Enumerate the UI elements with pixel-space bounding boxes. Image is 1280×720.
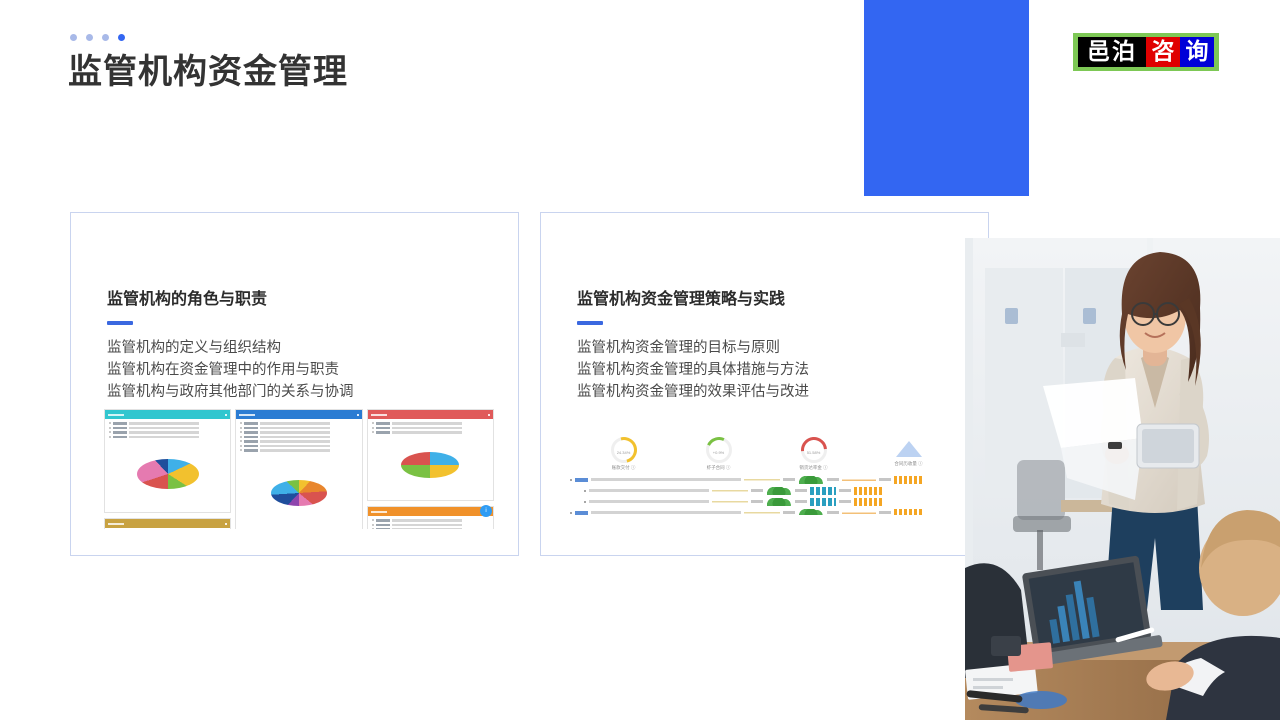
content-card-1[interactable]: 监管机构的角色与职责 监管机构的定义与组织结构 监管机构在资金管理中的作用与职责… bbox=[70, 212, 519, 556]
dot-4 bbox=[118, 34, 125, 41]
page-title: 监管机构资金管理 bbox=[68, 50, 348, 94]
logo-segment-red: 咨 bbox=[1146, 37, 1180, 67]
panel-blue bbox=[235, 409, 362, 529]
dashboard-column-1 bbox=[104, 409, 231, 529]
gauge-2: +0.9% 虾子合同 ⓘ bbox=[682, 437, 756, 471]
panel-gold-body bbox=[105, 528, 230, 529]
panel-red-header bbox=[368, 410, 493, 419]
gauge-1-caption: 账款交付 ⓘ bbox=[587, 465, 661, 471]
card-2-bullet-list: 监管机构资金管理的目标与原则 监管机构资金管理的具体措施与方法 监管机构资金管理… bbox=[577, 337, 968, 403]
panel-cyan-body bbox=[105, 419, 230, 512]
dot-indicator-row bbox=[70, 34, 125, 41]
dot-2 bbox=[86, 34, 93, 41]
panel-title-placeholder bbox=[108, 414, 124, 416]
panel-blue-header bbox=[236, 410, 361, 419]
gauge-2-caption: 虾子合同 ⓘ bbox=[682, 465, 756, 471]
panel-cyan bbox=[104, 409, 231, 513]
panel-orange bbox=[367, 506, 494, 529]
gauge-3-ring: 51.58% bbox=[801, 437, 827, 463]
panel-orange-header bbox=[368, 507, 493, 516]
card-1-accent-bar bbox=[107, 321, 133, 325]
panel-red bbox=[367, 409, 494, 501]
gauge-1-value: 24.34% bbox=[614, 450, 634, 455]
panel-cyan-pie bbox=[109, 438, 226, 509]
gauge-3-value: 51.58% bbox=[804, 450, 824, 455]
gauge-3: 51.58% 销货达率金 ⓘ bbox=[777, 437, 851, 471]
dot-3 bbox=[102, 34, 109, 41]
panel-red-pie bbox=[372, 434, 489, 498]
report-table-rows bbox=[566, 471, 966, 515]
brand-logo: 邑泊 咨 询 bbox=[1073, 33, 1219, 71]
panel-blue-body bbox=[236, 419, 361, 529]
dashboard-mock: i bbox=[104, 409, 494, 529]
gauge-2-ring: +0.9% bbox=[706, 437, 732, 463]
table-row bbox=[570, 507, 962, 515]
panel-cyan-header bbox=[105, 410, 230, 419]
card-1-bullet-list: 监管机构的定义与组织结构 监管机构在资金管理中的作用与职责 监管机构与政府其他部… bbox=[107, 337, 498, 403]
panel-blue-pie bbox=[240, 452, 357, 530]
card-1-thumbnail: i bbox=[104, 409, 504, 529]
table-row bbox=[570, 485, 962, 496]
area-chart-icon bbox=[896, 441, 922, 457]
card-1-title: 监管机构的角色与职责 bbox=[107, 285, 267, 309]
decorative-blue-block bbox=[864, 0, 1029, 196]
logo-segment-black: 邑泊 bbox=[1078, 37, 1146, 67]
card-1-line-2: 监管机构在资金管理中的作用与职责 bbox=[107, 359, 498, 381]
slide-root: 监管机构资金管理 邑泊 咨 询 监管机构的角色与职责 监管机构的定义与组织结构 … bbox=[0, 0, 1280, 720]
panel-gold-header bbox=[105, 519, 230, 528]
gauge-1: 24.34% 账款交付 ⓘ bbox=[587, 437, 661, 471]
panel-cyan-rows bbox=[109, 422, 226, 438]
help-badge-icon[interactable]: i bbox=[480, 505, 492, 517]
dashboard-column-3: i bbox=[367, 409, 494, 529]
card-2-line-1: 监管机构资金管理的目标与原则 bbox=[577, 337, 968, 359]
card-2-title: 监管机构资金管理策略与实践 bbox=[577, 285, 785, 309]
business-meeting-photo bbox=[965, 238, 1280, 720]
gauge-3-caption: 销货达率金 ⓘ bbox=[777, 465, 851, 471]
dot-1 bbox=[70, 34, 77, 41]
logo-segment-blue: 询 bbox=[1180, 37, 1214, 67]
panel-red-body bbox=[368, 419, 493, 500]
card-1-line-3: 监管机构与政府其他部门的关系与协调 bbox=[107, 381, 498, 403]
panel-menu-icon bbox=[225, 414, 227, 416]
report-mock: 24.34% 账款交付 ⓘ +0.9% 虾子合同 ⓘ bbox=[566, 435, 966, 515]
table-row bbox=[570, 496, 962, 507]
report-gauge-row: 24.34% 账款交付 ⓘ +0.9% 虾子合同 ⓘ bbox=[566, 435, 966, 471]
panel-orange-body bbox=[368, 516, 493, 529]
dashboard-column-2 bbox=[235, 409, 362, 529]
gauge-4-caption: 合同历收量 ⓘ bbox=[872, 461, 946, 467]
gauge-1-ring: 24.34% bbox=[611, 437, 637, 463]
card-2-thumbnail: 24.34% 账款交付 ⓘ +0.9% 虾子合同 ⓘ bbox=[566, 435, 976, 515]
table-row bbox=[570, 474, 962, 485]
card-1-line-1: 监管机构的定义与组织结构 bbox=[107, 337, 498, 359]
card-2-line-3: 监管机构资金管理的效果评估与改进 bbox=[577, 381, 968, 403]
panel-gold bbox=[104, 518, 231, 529]
card-2-accent-bar bbox=[577, 321, 603, 325]
gauge-2-value: +0.9% bbox=[709, 450, 729, 455]
card-2-line-2: 监管机构资金管理的具体措施与方法 bbox=[577, 359, 968, 381]
gauge-4: 合同历收量 ⓘ bbox=[872, 437, 946, 471]
content-card-2[interactable]: 监管机构资金管理策略与实践 监管机构资金管理的目标与原则 监管机构资金管理的具体… bbox=[540, 212, 989, 556]
